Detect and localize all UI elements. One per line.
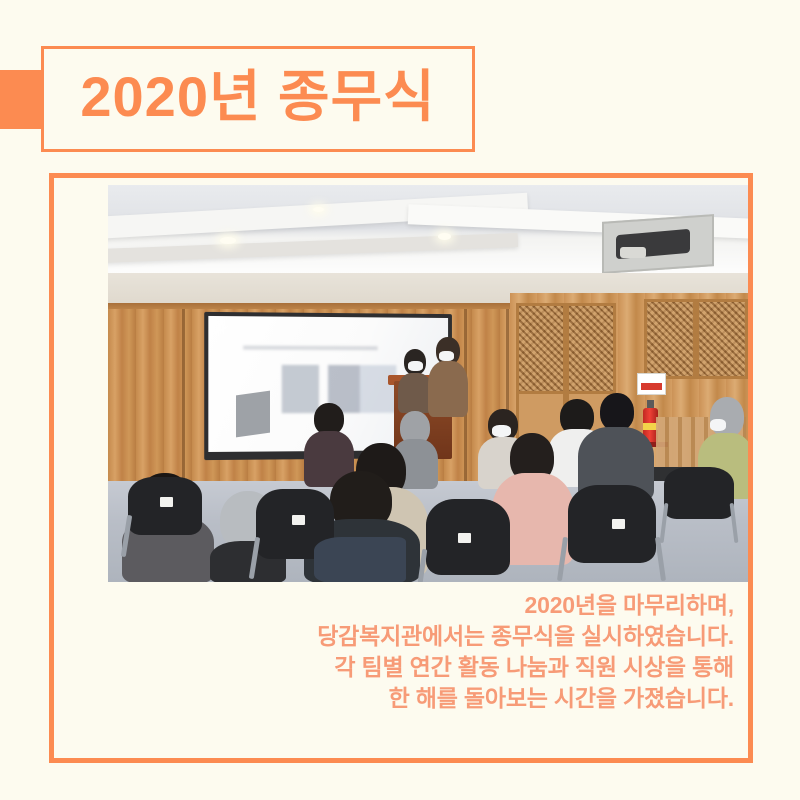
presenter-mask	[439, 351, 454, 361]
presenter-mask	[408, 361, 423, 371]
attendee-mask	[492, 425, 511, 437]
presenter-body	[398, 373, 432, 413]
page-title: 2020년 종무식	[80, 69, 435, 125]
ceiling-light	[220, 237, 236, 244]
lattice-panel	[644, 299, 696, 379]
chair-number-tag	[292, 515, 305, 525]
projector-lens	[620, 247, 646, 258]
title-accent-tab	[0, 70, 44, 129]
caption-line-3: 각 팀별 연간 활동 나눔과 직원 시상을 통해	[84, 652, 734, 683]
chair-number-tag	[160, 497, 173, 507]
caption-line-2: 당감복지관에서는 종무식을 실시하였습니다.	[84, 621, 734, 652]
caption-line-4: 한 해를 돌아보는 시간을 가졌습니다.	[84, 683, 734, 714]
ceiling-light	[313, 207, 324, 212]
caption-line-1: 2020년을 마무리하며,	[84, 590, 734, 621]
caption-block: 2020년을 마무리하며, 당감복지관에서는 종무식을 실시하였습니다. 각 팀…	[84, 590, 734, 714]
draped-coat	[314, 537, 406, 582]
title-box: 2020년 종무식	[41, 46, 475, 152]
lattice-panel	[566, 303, 616, 395]
lattice-panel	[516, 303, 566, 395]
attendee-head-hijab	[710, 397, 744, 437]
chair	[664, 467, 734, 519]
screen-text-line	[243, 346, 378, 351]
chair-number-tag	[458, 533, 471, 543]
side-podium	[236, 391, 270, 438]
lattice-panel	[696, 299, 748, 379]
content-frame: 2020년을 마무리하며, 당감복지관에서는 종무식을 실시하였습니다. 각 팀…	[49, 173, 753, 763]
ceiling-light	[438, 233, 451, 240]
chair-number-tag	[612, 519, 625, 529]
attendee-mask	[710, 419, 726, 431]
fire-safety-sign	[637, 373, 666, 395]
presenter-body	[428, 361, 468, 417]
attendee-head	[600, 393, 634, 431]
event-photo	[108, 185, 748, 582]
